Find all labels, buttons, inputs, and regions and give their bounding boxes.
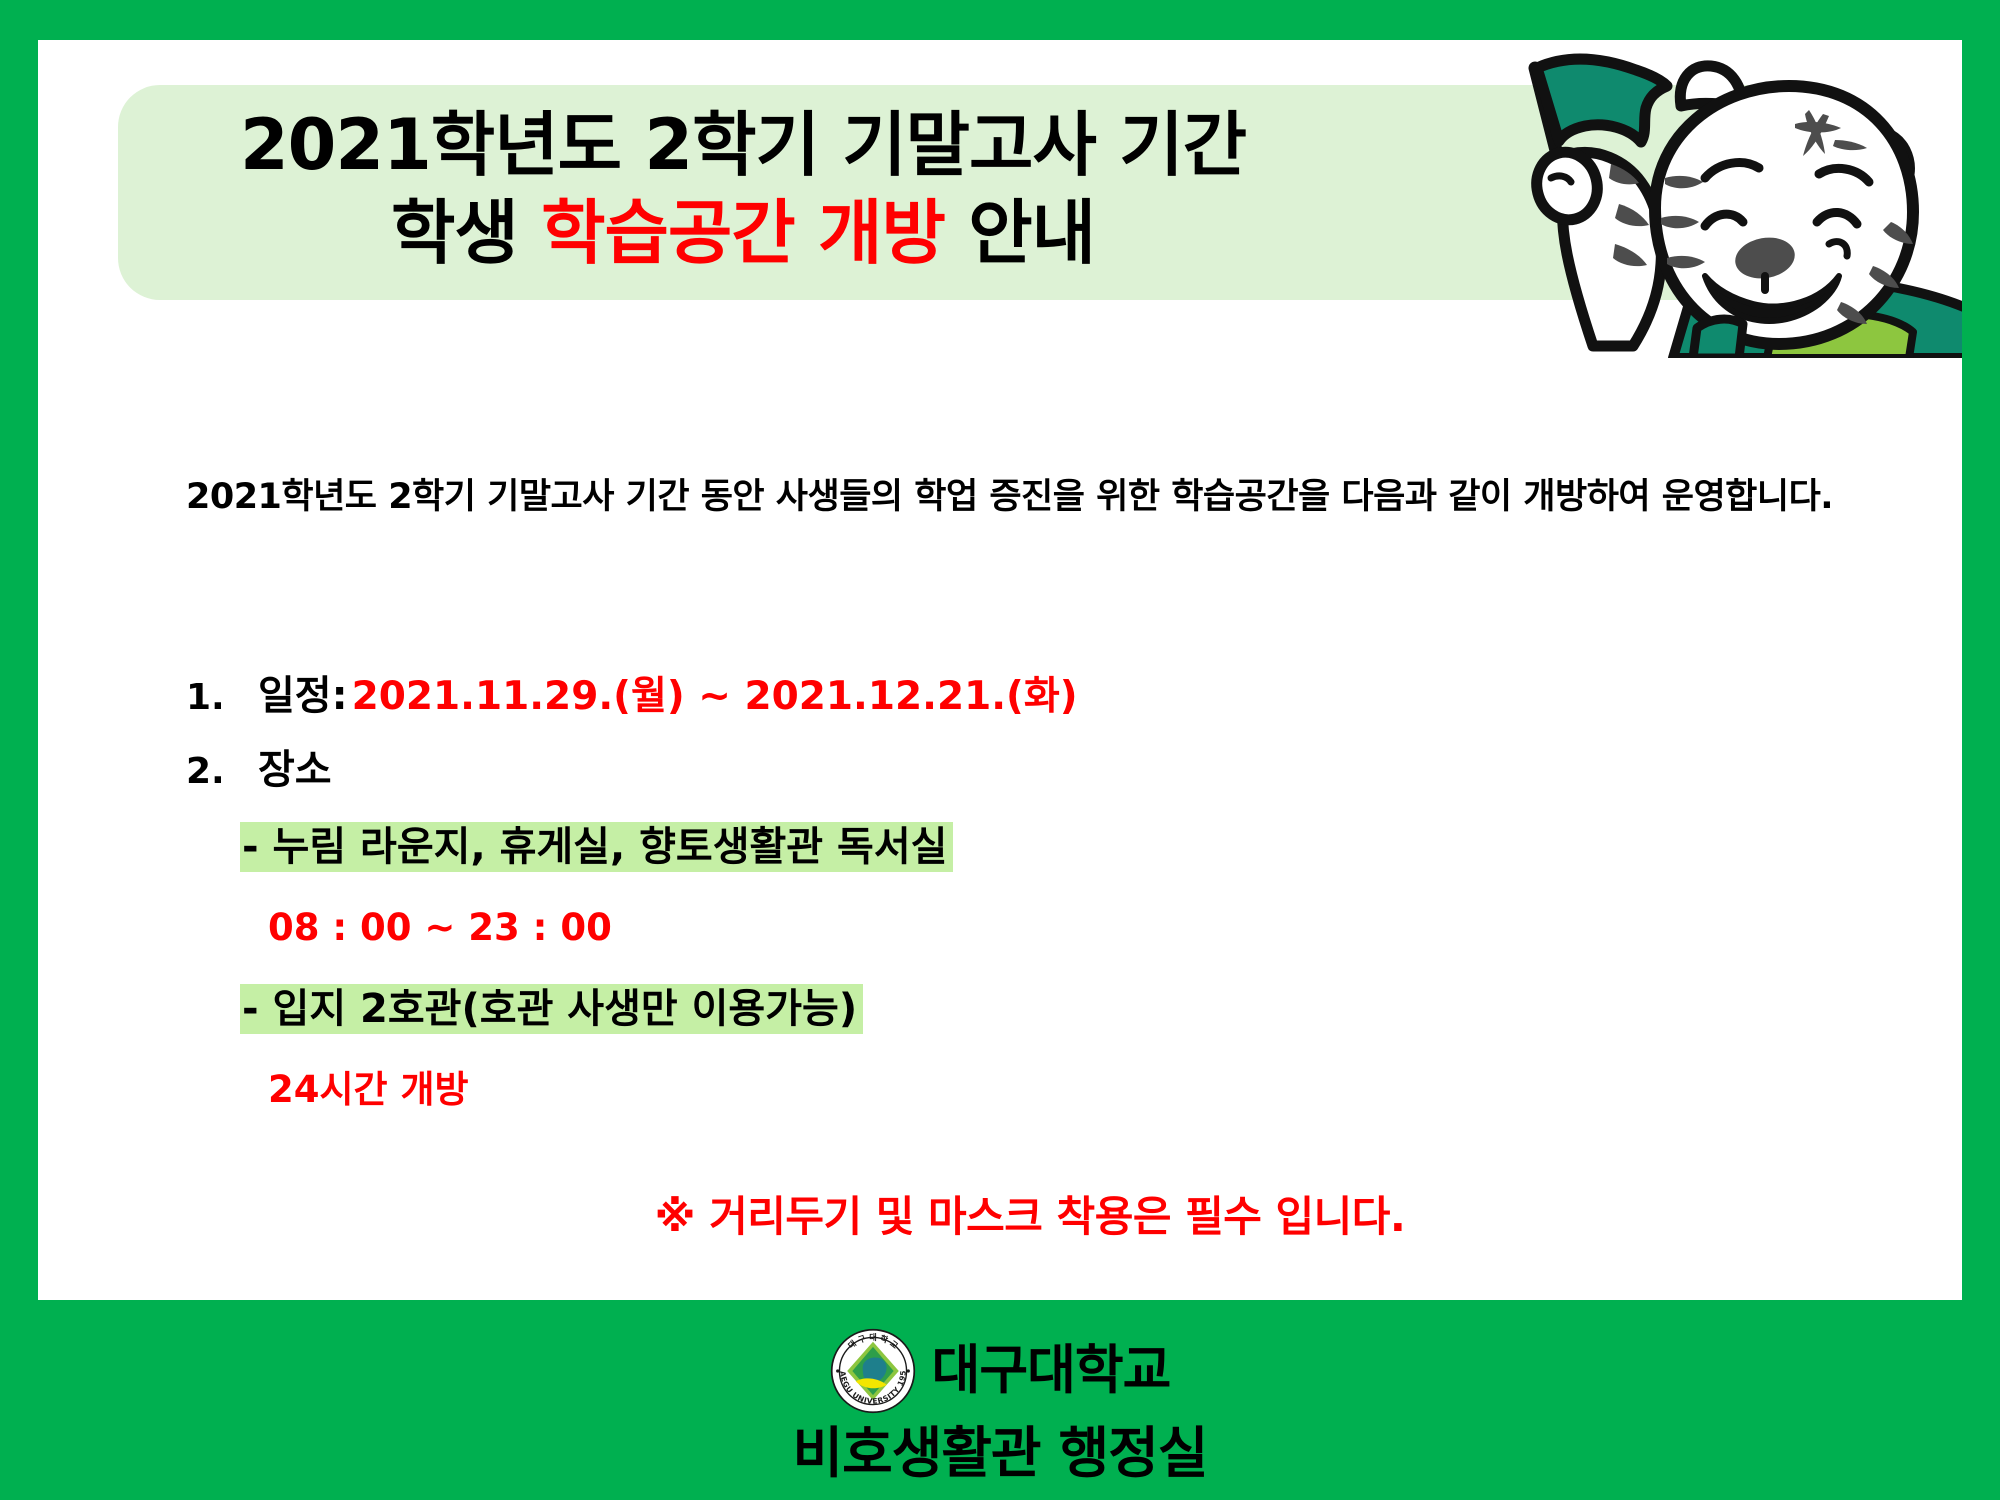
location-label: 장소	[258, 734, 332, 806]
list-item-location: 2. 장소	[186, 734, 1786, 808]
schedule-value: 2021.11.29.(월) ~ 2021.12.21.(화)	[352, 661, 1078, 733]
title-line-2: 학생 학습공간 개방 안내	[118, 189, 1368, 277]
footnote-text: ※ 거리두기 및 마스크 착용은 필수 입니다.	[655, 1192, 1406, 1241]
mascot-ear-right-inner	[1857, 144, 1899, 160]
place-2-name: - 입지 2호관(호관 사생만 이용가능)	[240, 984, 863, 1034]
list-marker-2: 2.	[186, 736, 258, 808]
detail-list: 1. 일정: 2021.11.29.(월) ~ 2021.12.21.(화) 2…	[186, 660, 1786, 1132]
place-1-name: - 누림 라운지, 휴게실, 향토생활관 독서실	[240, 822, 953, 872]
footer-university-name: 대구대학교	[932, 1340, 1171, 1402]
title-line-2-highlight: 학습공간 개방	[541, 192, 945, 274]
title-banner: 2021학년도 2학기 기말고사 기간 학생 학습공간 개방 안내	[118, 85, 1848, 300]
mascot-ear-right	[1843, 130, 1909, 204]
place-1-row: - 누림 라운지, 휴게실, 향토생활관 독서실	[240, 808, 1786, 886]
footnote: ※ 거리두기 및 마스크 착용은 필수 입니다.	[38, 1183, 1962, 1244]
schedule-label: 일정:	[258, 660, 348, 732]
place-2-row: - 입지 2호관(호관 사생만 이용가능)	[240, 970, 1786, 1048]
list-item-schedule: 1. 일정: 2021.11.29.(월) ~ 2021.12.21.(화)	[186, 660, 1786, 734]
mascot-scarf-knot	[1693, 319, 1743, 358]
place-2-hours: 24시간 개방	[268, 1048, 1786, 1132]
mascot-cheek-stripe-r2	[1869, 266, 1899, 288]
mascot-cheek-stripe-r3	[1837, 302, 1867, 324]
footer-organization-row: 대 구 대 학 교 DAEGU UNIVERSITY 1956 대구대학교	[830, 1328, 1171, 1414]
title-line-1: 2021학년도 2학기 기말고사 기간	[118, 101, 1368, 189]
list-marker-1: 1.	[186, 662, 258, 734]
footer: 대 구 대 학 교 DAEGU UNIVERSITY 1956 대구대학교 비호…	[0, 1300, 2000, 1500]
content-card: 2021학년도 2학기 기말고사 기간 학생 학습공간 개방 안내	[38, 40, 1962, 1300]
mascot-cheek-stripe-r1	[1883, 222, 1913, 244]
place-1-hours: 08 : 00 ~ 23 : 00	[268, 886, 1786, 970]
intro-paragraph: 2021학년도 2학기 기말고사 기간 동안 사생들의 학업 증진을 위한 학습…	[186, 463, 1846, 531]
footer-office-name: 비호생활관 행정실	[793, 1422, 1208, 1484]
poster-title: 2021학년도 2학기 기말고사 기간 학생 학습공간 개방 안내	[118, 101, 1368, 277]
title-line-2-suffix: 안내	[945, 192, 1095, 274]
university-seal-icon: 대 구 대 학 교 DAEGU UNIVERSITY 1956	[830, 1328, 916, 1414]
title-line-2-prefix: 학생	[391, 192, 541, 274]
mascot-cape-lining	[1767, 313, 1913, 358]
poster-root: 2021학년도 2학기 기말고사 기간 학생 학습공간 개방 안내	[0, 0, 2000, 1500]
